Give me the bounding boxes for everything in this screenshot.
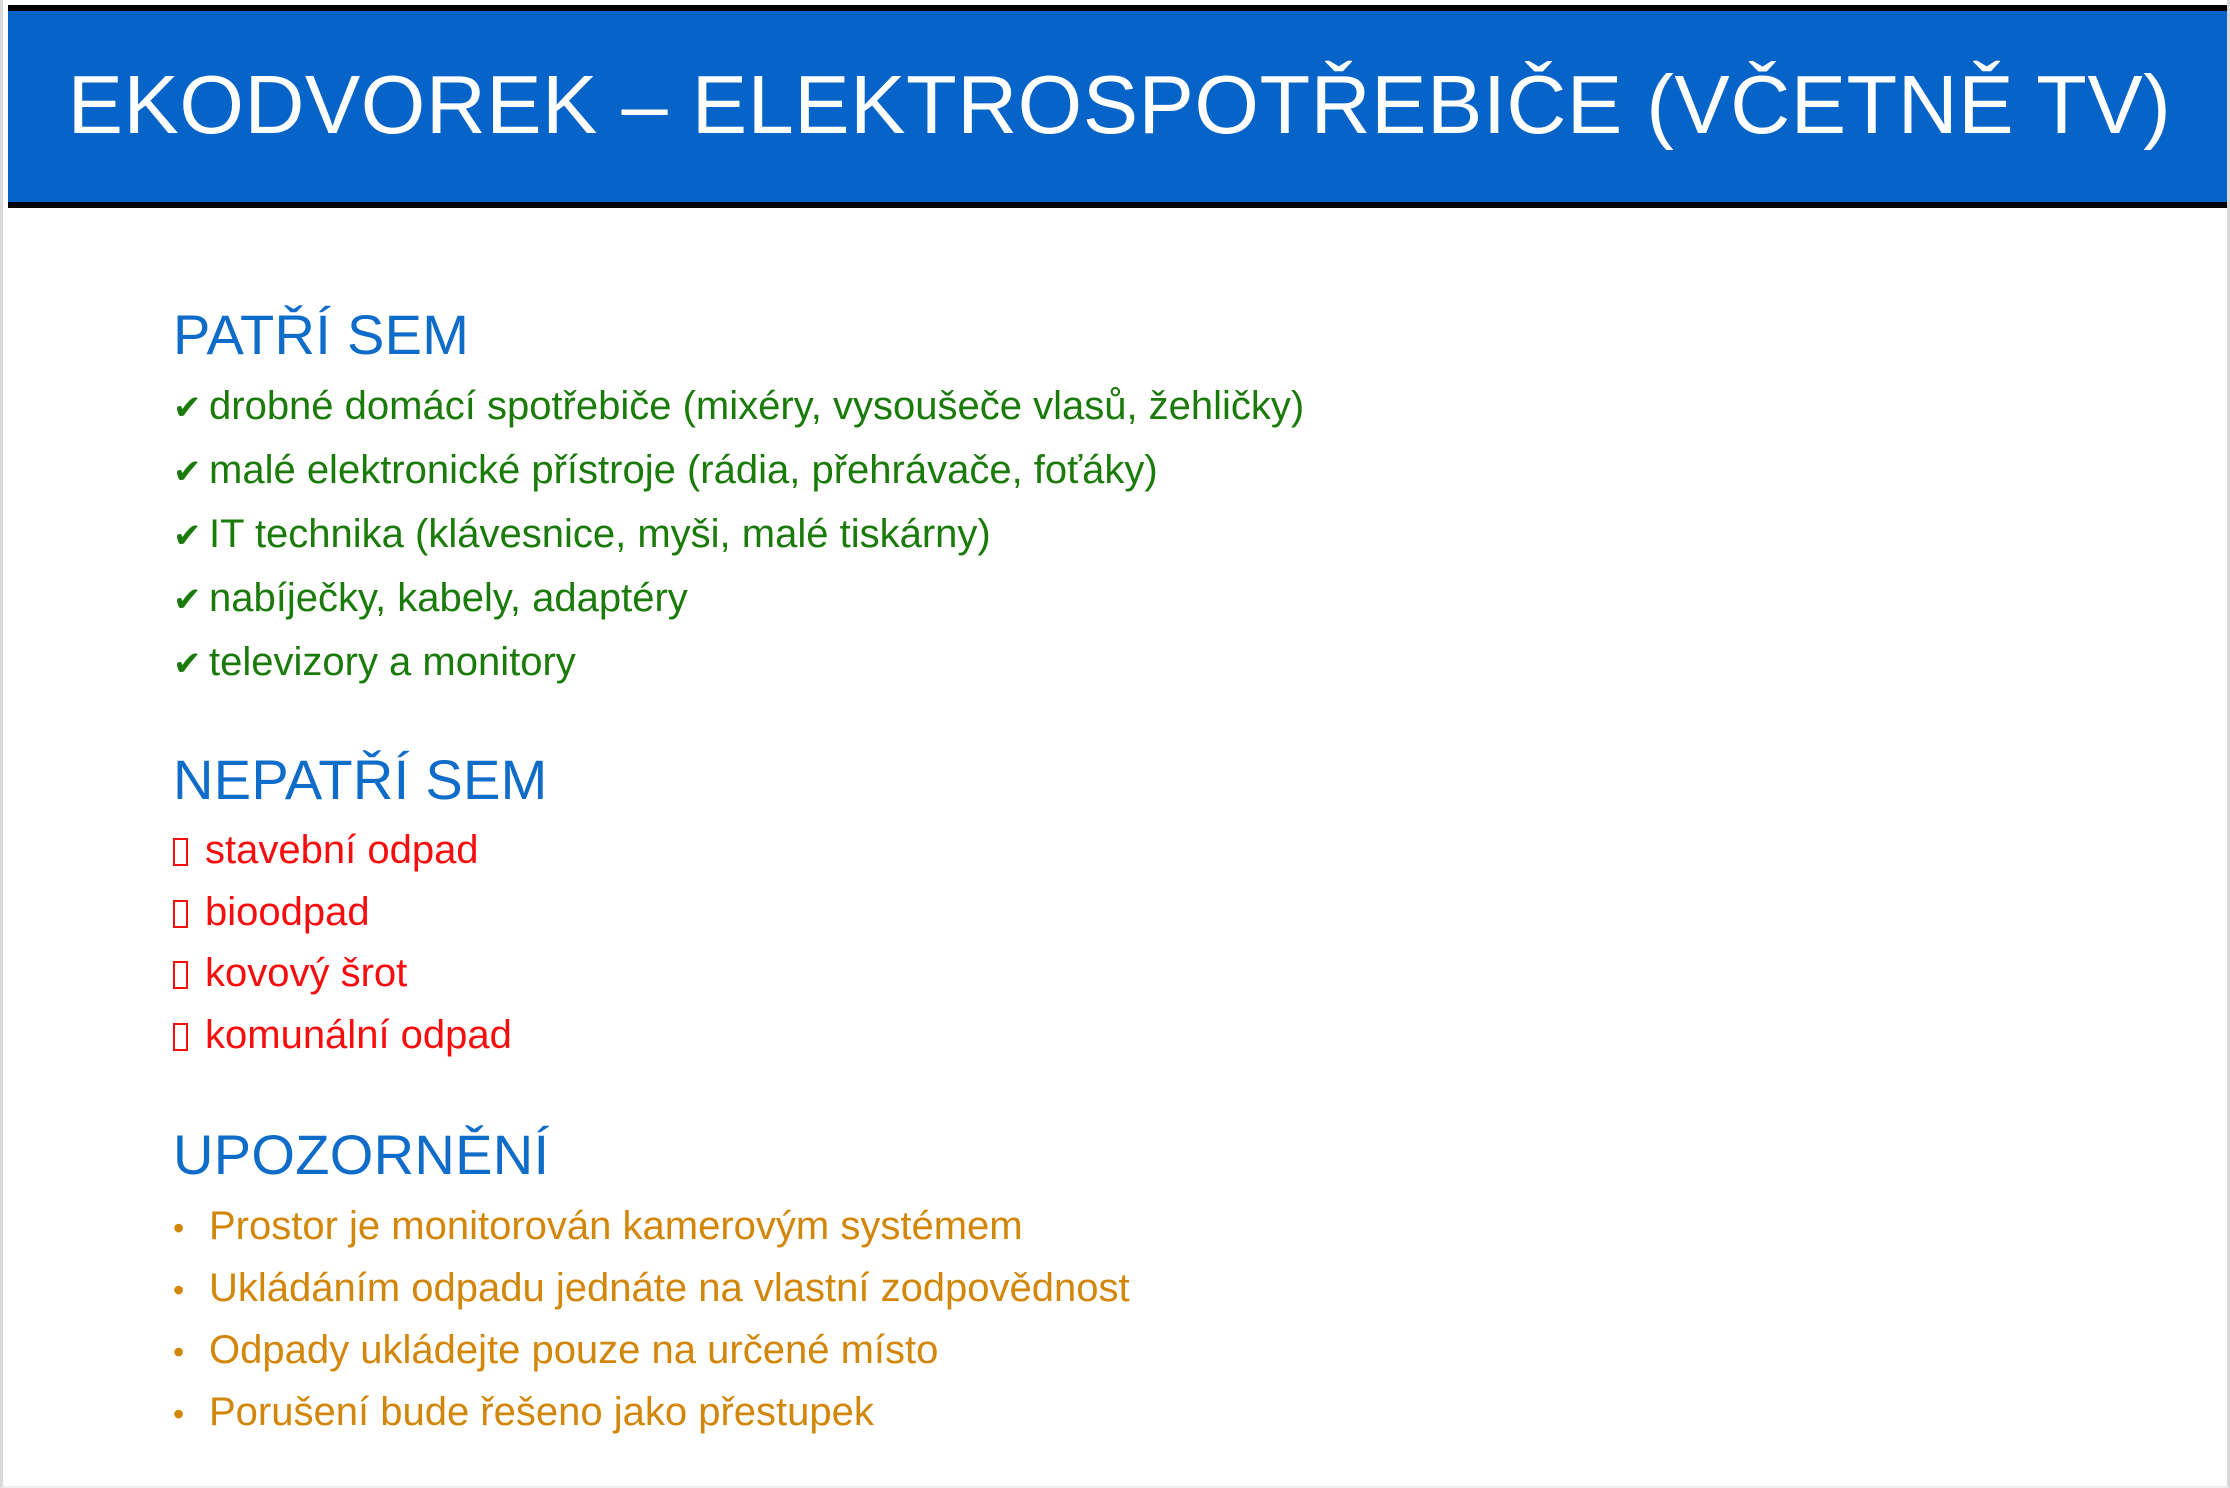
slide-body: PATŘÍ SEM ✔ drobné domácí spotřebiče (mi… — [3, 208, 2230, 1486]
header-banner: EKODVOREK – ELEKTROSPOTŘEBIČE (VČETNĚ TV… — [8, 5, 2230, 208]
allowed-list: ✔ drobné domácí spotřebiče (mixéry, vyso… — [173, 381, 2230, 687]
bullet-dot-icon: • — [173, 1394, 209, 1434]
section-notice: UPOZORNĚNÍ • Prostor je monitorován kame… — [173, 1124, 2230, 1437]
missing-glyph-box-icon — [173, 890, 205, 938]
list-item-label: Prostor je monitorován kamerovým systéme… — [209, 1201, 1023, 1251]
check-icon: ✔ — [173, 579, 209, 622]
slide-canvas: EKODVOREK – ELEKTROSPOTŘEBIČE (VČETNĚ TV… — [0, 0, 2230, 1488]
bullet-dot-icon: • — [173, 1270, 209, 1310]
list-item: • Odpady ukládejte pouze na určené místo — [173, 1325, 2230, 1375]
list-item-label: bioodpad — [205, 887, 370, 937]
list-item: ✔ nabíječky, kabely, adaptéry — [173, 573, 2230, 623]
section-allowed: PATŘÍ SEM ✔ drobné domácí spotřebiče (mi… — [173, 304, 2230, 687]
missing-glyph-box-icon — [173, 951, 205, 999]
list-item: • Ukládáním odpadu jednáte na vlastní zo… — [173, 1263, 2230, 1313]
list-item-label: kovový šrot — [205, 948, 407, 998]
list-item: stavební odpad — [173, 825, 2230, 876]
check-icon: ✔ — [173, 387, 209, 430]
list-item: • Prostor je monitorován kamerovým systé… — [173, 1201, 2230, 1251]
page-title: EKODVOREK – ELEKTROSPOTŘEBIČE (VČETNĚ TV… — [68, 63, 2172, 150]
missing-glyph-box-icon — [173, 1013, 205, 1061]
list-item-label: malé elektronické přístroje (rádia, přeh… — [209, 445, 1158, 495]
list-item-label: Ukládáním odpadu jednáte na vlastní zodp… — [209, 1263, 1130, 1313]
section-heading-forbidden: NEPATŘÍ SEM — [173, 749, 2230, 812]
list-item-label: Porušení bude řešeno jako přestupek — [209, 1387, 874, 1437]
list-item: ✔ malé elektronické přístroje (rádia, př… — [173, 445, 2230, 495]
list-item-label: televizory a monitory — [209, 637, 576, 687]
check-icon: ✔ — [173, 451, 209, 494]
notice-list: • Prostor je monitorován kamerovým systé… — [173, 1201, 2230, 1437]
list-item: bioodpad — [173, 887, 2230, 938]
missing-glyph-box-icon — [173, 828, 205, 876]
bullet-dot-icon: • — [173, 1332, 209, 1372]
section-forbidden: NEPATŘÍ SEM stavební odpad bioodpad kovo… — [173, 749, 2230, 1061]
list-item: ✔ IT technika (klávesnice, myši, malé ti… — [173, 509, 2230, 559]
check-icon: ✔ — [173, 643, 209, 686]
check-icon: ✔ — [173, 515, 209, 558]
list-item-label: Odpady ukládejte pouze na určené místo — [209, 1325, 938, 1375]
list-item: ✔ drobné domácí spotřebiče (mixéry, vyso… — [173, 381, 2230, 431]
list-item: ✔ televizory a monitory — [173, 637, 2230, 687]
list-item: kovový šrot — [173, 948, 2230, 999]
forbidden-list: stavební odpad bioodpad kovový šrot komu… — [173, 825, 2230, 1060]
section-heading-notice: UPOZORNĚNÍ — [173, 1124, 2230, 1187]
bullet-dot-icon: • — [173, 1208, 209, 1248]
list-item-label: drobné domácí spotřebiče (mixéry, vysouš… — [209, 381, 1304, 431]
list-item-label: nabíječky, kabely, adaptéry — [209, 573, 688, 623]
list-item: • Porušení bude řešeno jako přestupek — [173, 1387, 2230, 1437]
list-item: komunální odpad — [173, 1010, 2230, 1061]
list-item-label: komunální odpad — [205, 1010, 512, 1060]
list-item-label: IT technika (klávesnice, myši, malé tisk… — [209, 509, 991, 559]
list-item-label: stavební odpad — [205, 825, 479, 875]
section-heading-allowed: PATŘÍ SEM — [173, 304, 2230, 367]
